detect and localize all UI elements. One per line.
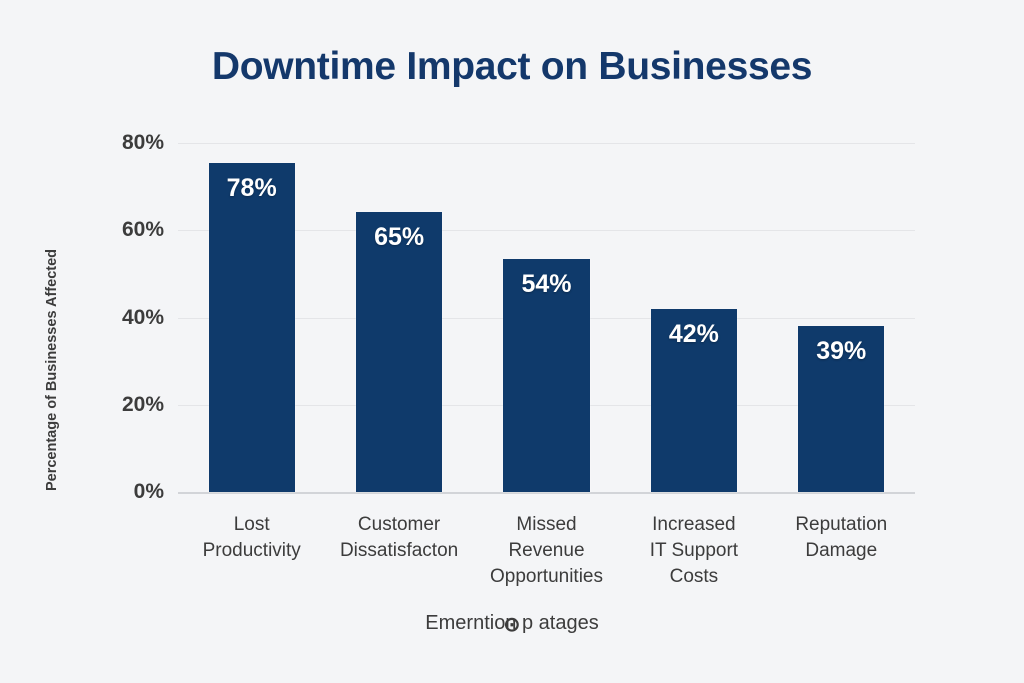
bar-value-label: 42% [651,320,737,349]
y-tick-label: 60% [44,218,164,242]
bar-value-label: 78% [209,174,295,203]
y-axis-title: Percentage of Businesses Affected [44,249,60,491]
x-axis-title-overlay: ⊙ [0,612,1024,637]
bar-series: 78%65%54%42%39% [178,143,915,492]
bar-value-label: 65% [356,223,442,252]
x-axis-title: Emerntion p atages ⊙ [0,612,1024,644]
x-tick-label: Increased IT Support Costs [614,512,773,590]
bar-slot[interactable]: 39% [798,143,884,492]
y-tick-label: 20% [44,393,164,417]
y-tick-label: 40% [44,306,164,330]
bar-slot[interactable]: 54% [503,143,589,492]
bar-slot[interactable]: 65% [356,143,442,492]
bar-value-label: 39% [798,337,884,366]
gridline-0 [178,492,915,494]
bar[interactable] [356,212,442,492]
chart-figure: Downtime Impact on Businesses Percentage… [0,0,1024,683]
page-title: Downtime Impact on Businesses [0,45,1024,89]
plot-area: 78%65%54%42%39% [178,143,915,492]
x-tick-label: Customer Dissatisfacton [319,512,478,564]
bar[interactable] [209,163,295,492]
x-tick-label: Reputation Damage [762,512,921,564]
x-tick-label: Missed Revenue Opportunities [467,512,626,590]
x-tick-label: Lost Productivity [172,512,331,564]
bar-value-label: 54% [503,270,589,299]
y-tick-label: 80% [44,131,164,155]
bar-slot[interactable]: 78% [209,143,295,492]
y-tick-label: 0% [44,480,164,504]
bar-slot[interactable]: 42% [651,143,737,492]
